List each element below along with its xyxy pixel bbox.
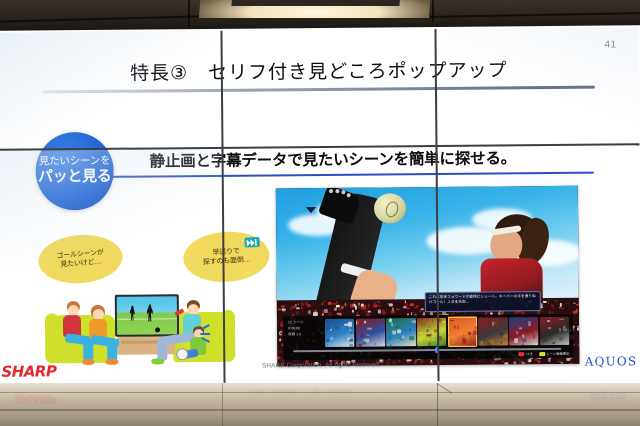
thumbnail-detail — [533, 334, 535, 339]
crowd-pixel — [350, 304, 354, 307]
thumbnail-detail — [442, 321, 446, 323]
thumbnail-detail — [482, 324, 487, 329]
thumbnail-detail — [530, 330, 534, 333]
crowd-pixel — [277, 320, 278, 324]
crowd-pixel — [577, 326, 579, 327]
ceiling-tile-seam — [188, 0, 190, 26]
scene-caption-text: これは恐をフォワードが豪快にシュート。キーパーの手を擦りぬけゴール！１点を先取… — [429, 294, 537, 306]
crowd-pixel — [378, 305, 382, 307]
crowd-pixel — [289, 303, 290, 306]
thumbnail-detail — [438, 319, 441, 322]
thumbnail-detail — [426, 330, 429, 332]
crowd-pixel — [280, 305, 284, 308]
crowd-pixel — [410, 303, 414, 306]
thumbnail-detail — [457, 325, 459, 330]
crowd-pixel — [344, 303, 345, 306]
crowd-pixel — [324, 309, 328, 313]
crowd-pixel — [561, 308, 564, 309]
crowd-pixel — [576, 347, 578, 350]
ceiling-tile-seam — [0, 15, 200, 22]
crowd-pixel — [412, 312, 415, 313]
popup-tail — [306, 207, 316, 213]
thumbnail-detail — [492, 328, 494, 329]
copyright-reflection: SHARP Corporation. All rights reserved. — [246, 388, 352, 394]
crowd-pixel — [395, 308, 399, 310]
thumbnail-strip[interactable] — [325, 317, 569, 347]
aquos-brand: AQUOS — [585, 354, 638, 368]
red-key-chip — [519, 352, 525, 356]
crowd-pixel — [576, 304, 579, 305]
video-wall-panels: 41 特長③ セリフ付き見どころポップアップ 見たいシーンを パッと見る 静止画… — [0, 27, 640, 385]
thumbnail-detail — [428, 342, 431, 346]
crowd-pixel — [307, 305, 311, 307]
page-number: 41 — [604, 39, 616, 50]
crowd-pixel — [301, 308, 303, 310]
thumbnail-detail — [480, 333, 482, 336]
status-badge: 見たいシーンを パッと見る — [35, 132, 114, 211]
thumbnail-detail — [480, 336, 483, 340]
video-wall: 41 特長③ セリフ付き見どころポップアップ 見たいシーンを パッと見る 静止画… — [0, 25, 640, 389]
thumbnail-detail — [395, 325, 400, 328]
thumbnail-detail — [382, 330, 385, 331]
scene-thumbnail[interactable] — [540, 317, 569, 345]
crowd-pixel — [406, 307, 410, 309]
thumbnail-detail — [492, 322, 494, 327]
presentation-slide: 41 特長③ セリフ付き見どころポップアップ 見たいシーンを パッと見る 静止画… — [0, 27, 640, 385]
thumbnail-detail — [391, 335, 392, 337]
speech-bubble-right-line-2: 探すのも面倒… — [203, 255, 251, 267]
thumbnail-detail — [501, 325, 505, 329]
legs — [157, 338, 167, 360]
thumbnail-detail — [473, 331, 477, 335]
crowd-pixel — [555, 300, 557, 302]
thumbnail-detail — [409, 336, 414, 340]
thumbnail-detail — [428, 325, 431, 329]
thumbnail-detail — [367, 328, 372, 330]
thumbnail-detail — [366, 334, 370, 336]
thumbnail-detail — [335, 327, 339, 329]
crowd-pixel — [283, 311, 285, 313]
thumbnail-detail — [330, 337, 333, 340]
crowd-pixel — [328, 302, 332, 305]
thumbnail-detail — [344, 324, 348, 326]
thumbnail-detail — [349, 327, 351, 330]
crowd-pixel — [559, 307, 560, 308]
thumbnail-detail — [496, 326, 500, 329]
yellow-key-scene-info[interactable]: シーン情報表示 — [539, 351, 569, 356]
thumbnail-detail — [560, 337, 564, 341]
crowd-pixel — [361, 304, 364, 307]
thumbnail-detail — [400, 339, 403, 340]
thumbnail-detail — [547, 320, 550, 322]
crowd-pixel — [355, 306, 357, 309]
thumbnail-detail — [392, 330, 396, 335]
thumbnail-detail — [381, 327, 383, 332]
scene-thumbnail[interactable] — [386, 318, 415, 346]
tv-osd-bar: 12 シーン 0:00:00 収録 1 h ‹ › けす — [283, 314, 573, 361]
crowd-pixel — [280, 333, 282, 335]
crowd-pixel — [291, 309, 293, 311]
badge-line-2: パッと見る — [38, 169, 112, 186]
thumbnail-detail — [419, 327, 420, 328]
crowd-pixel — [336, 301, 339, 304]
crowd-pixel — [292, 306, 296, 308]
thumbnail-detail — [363, 339, 364, 341]
ceiling-tile-seam — [432, 0, 434, 22]
thumbnail-detail — [535, 343, 538, 346]
crowd-pixel — [348, 301, 351, 303]
thumbnail-detail — [448, 334, 450, 337]
thumbnail-detail — [502, 342, 506, 344]
crowd-pixel — [352, 310, 354, 313]
crowd-pixel — [284, 304, 287, 305]
scene-caption-popup: これは恐をフォワードが豪快にシュート。キーパーの手を擦りぬけゴール！１点を先取… — [425, 291, 541, 312]
soccer-ball-icon — [155, 327, 160, 332]
thumbnail-detail — [515, 339, 518, 344]
thumbnail-detail — [542, 339, 544, 343]
speech-bubble-right: 早送りで 探すのも面倒… — [182, 229, 271, 284]
thumbnail-detail — [550, 318, 551, 319]
thumbnail-detail — [402, 335, 403, 339]
thumbnail-detail — [565, 326, 567, 329]
crowd-pixel — [577, 344, 579, 346]
crowd-pixel — [389, 303, 393, 307]
next-page-arrow[interactable]: › — [569, 328, 571, 334]
scene-thumbnail[interactable] — [478, 317, 507, 345]
crowd-pixel — [301, 302, 303, 306]
thumbnail-detail — [559, 319, 564, 321]
thumbnail-detail — [544, 338, 546, 343]
crowd-pixel — [296, 308, 300, 310]
thumbnail-detail — [381, 319, 383, 322]
crowd-pixel — [576, 309, 579, 313]
thumbnail-detail — [409, 328, 411, 332]
thumbnail-detail — [420, 322, 424, 325]
illustrated-tv-screen — [117, 296, 177, 335]
thumbnail-detail — [412, 320, 416, 323]
thumbnail-detail — [360, 334, 363, 338]
thumbnail-detail — [521, 343, 524, 345]
thumbnail-detail — [375, 343, 376, 346]
thumbnail-detail — [499, 333, 503, 336]
thumbnail-detail — [326, 326, 330, 330]
crowd-pixel — [573, 303, 575, 304]
thumbnail-detail — [457, 320, 458, 322]
crowd-pixel — [368, 303, 371, 307]
crowd-pixel — [322, 303, 324, 305]
thumbnail-detail — [419, 332, 423, 335]
pitch-line — [117, 318, 177, 320]
crowd-pixel — [574, 300, 576, 301]
crowd-pixel — [368, 311, 371, 312]
crowd-pixel — [559, 303, 562, 307]
fast-forward-icon — [244, 237, 260, 248]
scene-thumbnail[interactable] — [417, 318, 446, 346]
page-title: 特長③ セリフ付き見どころポップアップ — [0, 54, 639, 87]
thumbnail-detail — [391, 322, 393, 325]
thumbnail-detail — [463, 338, 466, 343]
illustration-group: ゴールシーンが 見たいけど… 早送りで 探すのも面倒… — [16, 226, 247, 373]
thumbnail-detail — [357, 320, 360, 324]
scene-thumbnail[interactable] — [448, 317, 477, 347]
ceiling-tile-seam — [430, 12, 640, 17]
crowd-pixel — [378, 310, 381, 314]
thumbnail-detail — [370, 337, 371, 338]
thumbnail-detail — [432, 320, 433, 323]
ceiling-light-inner — [231, 0, 400, 6]
crowd-pixel — [279, 338, 281, 341]
title-underline — [43, 86, 595, 93]
thumbnail-detail — [466, 336, 470, 339]
thumbnail-detail — [512, 334, 516, 337]
yellow-key-chip — [539, 352, 545, 356]
thumbnail-detail — [480, 340, 483, 345]
living-room-scene — [45, 278, 236, 370]
duration: 収録 1 h — [288, 332, 322, 338]
soccer-ball-prop — [176, 348, 188, 360]
crowd-pixel — [298, 303, 299, 305]
thumbnail-detail — [516, 331, 518, 335]
thumbnail-detail — [430, 336, 434, 338]
crowd-pixel — [295, 311, 298, 314]
thumbnail-detail — [350, 343, 354, 346]
thumbnail-detail — [432, 339, 436, 340]
yellow-key-label: シーン情報表示 — [546, 351, 569, 356]
color-key-controls: けす シーン情報表示 — [519, 351, 570, 356]
thumbnail-detail — [397, 330, 401, 334]
crowd-pixel — [315, 308, 317, 310]
crowd-pixel — [323, 300, 326, 303]
thumbnail-detail — [546, 339, 547, 341]
tv-ui-screenshot: これは恐をフォワードが豪快にシュート。キーパーの手を擦りぬけゴール！１点を先取…… — [276, 186, 580, 367]
subtitle-underline — [110, 172, 594, 178]
thumbnail-detail — [528, 321, 531, 326]
thumbnail-detail — [490, 340, 495, 343]
thumbnail-detail — [434, 329, 437, 333]
thumbnail-detail — [522, 335, 523, 339]
osd-info-panel: 12 シーン 0:00:00 収録 1 h — [288, 320, 322, 346]
thumbnail-detail — [326, 339, 329, 341]
photo-of-video-wall: 41 特長③ セリフ付き見どころポップアップ 見たいシーンを パッと見る 静止画… — [0, 0, 640, 426]
speech-bubble-left-line-2: 見たいけど… — [60, 258, 101, 271]
thumbnail-detail — [389, 344, 392, 346]
badge-line-1: 見たいシーンを — [39, 156, 111, 168]
crowd-pixel — [547, 299, 550, 301]
thumbnail-detail — [397, 337, 402, 338]
thumbnail-detail — [332, 329, 333, 331]
crowd-pixel — [416, 305, 419, 307]
thumbnail-detail — [438, 336, 442, 341]
thumbnail-detail — [525, 323, 527, 328]
subtitle: 静止画と字幕データで見たいシーンを簡単に探せる。 — [149, 146, 516, 171]
crowd-pixel — [392, 307, 394, 311]
thumbnail-detail — [378, 337, 379, 339]
thumbnail-detail — [552, 342, 555, 344]
thumbnail-detail — [548, 327, 552, 329]
thumbnail-detail — [519, 328, 522, 329]
thumbnail-detail — [364, 320, 366, 323]
thumbnail-detail — [350, 332, 352, 334]
sofa-left-arm — [45, 313, 59, 363]
thumbnail-detail — [406, 323, 409, 326]
thumbnail-detail — [345, 336, 346, 341]
excitement-lines-icon — [199, 324, 221, 348]
crowd-pixel — [366, 308, 370, 310]
thumbnail-detail — [468, 331, 470, 335]
sofa-right-arm — [221, 310, 235, 362]
thumbnail-detail — [474, 326, 477, 331]
crowd-pixel — [384, 312, 386, 314]
thumbnail-detail — [457, 342, 461, 345]
thumbnail-detail — [390, 337, 391, 339]
thumbnail-detail — [559, 328, 561, 332]
sharp-logo-reflection: SHARP — [14, 392, 56, 406]
scene-thumbnail[interactable] — [325, 319, 354, 347]
crowd-pixel — [577, 327, 579, 331]
crowd-pixel — [548, 302, 549, 304]
thumbnail-detail — [341, 326, 346, 330]
thumbnail-detail — [327, 344, 328, 347]
illustrated-tv — [115, 294, 179, 337]
scene-thumbnail[interactable] — [356, 318, 385, 346]
red-key-close[interactable]: けす — [519, 351, 533, 356]
thumbnail-detail — [450, 320, 454, 321]
thumbnail-detail — [549, 338, 552, 339]
aquos-reflection: AQUOS — [590, 390, 626, 401]
scrubber-handle[interactable] — [435, 347, 438, 353]
red-key-label: けす — [526, 351, 533, 356]
thumbnail-detail — [450, 339, 452, 343]
crowd-pixel — [543, 301, 547, 303]
thumbnail-detail — [362, 342, 367, 345]
crowd-pixel — [305, 302, 307, 305]
scene-thumbnail[interactable] — [509, 317, 538, 345]
prev-page-arrow[interactable]: ‹ — [321, 330, 323, 336]
crowd-pixel — [308, 310, 311, 314]
thumbnail-detail — [556, 320, 559, 323]
